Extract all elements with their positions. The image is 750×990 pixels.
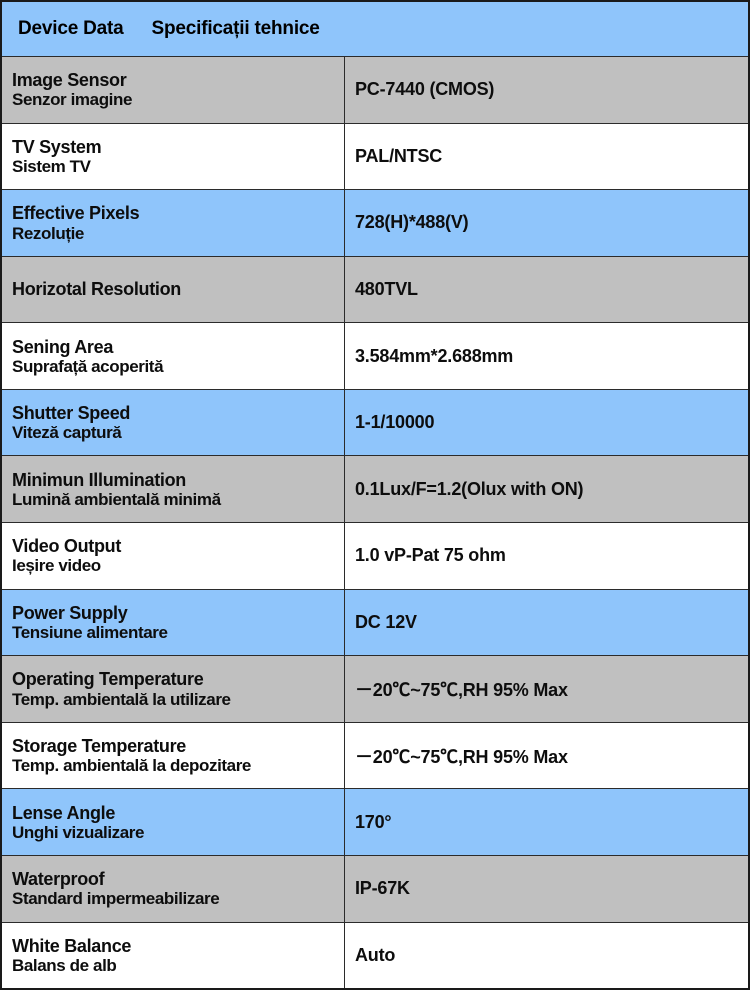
spec-value-cell: －20℃~75℃,RH 95% Max: [345, 656, 748, 722]
spec-label-ro: Balans de alb: [12, 956, 344, 975]
spec-label-cell: Horizotal Resolution: [2, 257, 345, 323]
spec-value-text: －20℃~75℃,RH 95% Max: [355, 743, 568, 769]
spec-label-ro: Viteză captură: [12, 423, 344, 442]
spec-label-cell: Lense Angle Unghi vizualizare: [2, 789, 345, 855]
spec-label-en: Operating Temperature: [12, 669, 344, 689]
spec-label-cell: Storage Temperature Temp. ambientală la …: [2, 723, 345, 789]
spec-label-en: Power Supply: [12, 603, 344, 623]
spec-label-ro: Unghi vizualizare: [12, 823, 344, 842]
spec-value-cell: 728(H)*488(V): [345, 190, 748, 256]
spec-label-cell: Image Sensor Senzor imagine: [2, 57, 345, 123]
spec-value-cell: DC 12V: [345, 590, 748, 656]
spec-label-cell: Power Supply Tensiune alimentare: [2, 590, 345, 656]
table-row-waterproof: Waterproof Standard impermeabilizare IP-…: [2, 856, 748, 923]
table-row-video-output: Video Output Ieșire video 1.0 vP-Pat 75 …: [2, 523, 748, 590]
spec-value-cell: Auto: [345, 923, 748, 989]
spec-value-cell: 3.584mm*2.688mm: [345, 323, 748, 389]
spec-value-text: Auto: [355, 945, 395, 966]
device-data-spec-table: Device Data Specificații tehnice Image S…: [0, 0, 750, 990]
table-row-operating-temperature: Operating Temperature Temp. ambientală l…: [2, 656, 748, 723]
spec-value-text: 1.0 vP-Pat 75 ohm: [355, 545, 506, 566]
spec-value-cell: IP-67K: [345, 856, 748, 922]
spec-label-en: Storage Temperature: [12, 736, 344, 756]
spec-label-ro: Rezoluție: [12, 224, 344, 243]
spec-value-cell: 480TVL: [345, 257, 748, 323]
spec-value-cell: 170°: [345, 789, 748, 855]
spec-label-cell: TV System Sistem TV: [2, 124, 345, 190]
spec-label-cell: Sening Area Suprafață acoperită: [2, 323, 345, 389]
spec-label-cell: Video Output Ieșire video: [2, 523, 345, 589]
spec-label-en: TV System: [12, 137, 344, 157]
spec-label-ro: Sistem TV: [12, 157, 344, 176]
spec-label-ro: Temp. ambientală la utilizare: [12, 690, 344, 709]
spec-value-cell: －20℃~75℃,RH 95% Max: [345, 723, 748, 789]
spec-value-text: 480TVL: [355, 279, 418, 300]
spec-value-text: DC 12V: [355, 612, 417, 633]
spec-label-en: Effective Pixels: [12, 203, 344, 223]
spec-label-en: White Balance: [12, 936, 344, 956]
spec-label-ro: Suprafață acoperită: [12, 357, 344, 376]
spec-value-cell: 1-1/10000: [345, 390, 748, 456]
spec-value-text: 0.1Lux/F=1.2(Olux with ON): [355, 479, 583, 500]
spec-label-en: Sening Area: [12, 337, 344, 357]
spec-label-ro: Lumină ambientală minimă: [12, 490, 344, 509]
spec-label-en: Lense Angle: [12, 803, 344, 823]
table-row-horizotal-resolution: Horizotal Resolution 480TVL: [2, 257, 748, 324]
spec-label-en: Shutter Speed: [12, 403, 344, 423]
spec-label-cell: Shutter Speed Viteză captură: [2, 390, 345, 456]
table-header-row: Device Data Specificații tehnice: [2, 2, 748, 57]
spec-label-cell: White Balance Balans de alb: [2, 923, 345, 989]
table-row-tv-system: TV System Sistem TV PAL/NTSC: [2, 124, 748, 191]
spec-label-en: Minimun Illumination: [12, 470, 344, 490]
spec-label-ro: Ieșire video: [12, 556, 344, 575]
spec-label-en: Waterproof: [12, 869, 344, 889]
spec-label-cell: Operating Temperature Temp. ambientală l…: [2, 656, 345, 722]
table-row-shutter-speed: Shutter Speed Viteză captură 1-1/10000: [2, 390, 748, 457]
spec-label-ro: Temp. ambientală la depozitare: [12, 756, 344, 775]
table-row-minimun-illumination: Minimun Illumination Lumină ambientală m…: [2, 456, 748, 523]
spec-value-text: PC-7440 (CMOS): [355, 79, 494, 100]
spec-value-text: 170°: [355, 812, 391, 833]
spec-label-en: Image Sensor: [12, 70, 344, 90]
table-row-storage-temperature: Storage Temperature Temp. ambientală la …: [2, 723, 748, 790]
spec-value-cell: PC-7440 (CMOS): [345, 57, 748, 123]
table-row-effective-pixels: Effective Pixels Rezoluție 728(H)*488(V): [2, 190, 748, 257]
table-row-lense-angle: Lense Angle Unghi vizualizare 170°: [2, 789, 748, 856]
table-row-white-balance: White Balance Balans de alb Auto: [2, 923, 748, 989]
spec-value-text: 1-1/10000: [355, 412, 434, 433]
spec-label-en: Horizotal Resolution: [12, 279, 344, 299]
header-title-en: Device Data: [18, 18, 124, 40]
spec-label-cell: Minimun Illumination Lumină ambientală m…: [2, 456, 345, 522]
table-row-sening-area: Sening Area Suprafață acoperită 3.584mm*…: [2, 323, 748, 390]
spec-label-cell: Waterproof Standard impermeabilizare: [2, 856, 345, 922]
spec-label-en: Video Output: [12, 536, 344, 556]
spec-value-text: －20℃~75℃,RH 95% Max: [355, 676, 568, 702]
table-row-power-supply: Power Supply Tensiune alimentare DC 12V: [2, 590, 748, 657]
spec-value-text: 3.584mm*2.688mm: [355, 346, 513, 367]
spec-value-text: IP-67K: [355, 878, 410, 899]
table-row-image-sensor: Image Sensor Senzor imagine PC-7440 (CMO…: [2, 57, 748, 124]
spec-value-cell: PAL/NTSC: [345, 124, 748, 190]
spec-value-text: PAL/NTSC: [355, 146, 442, 167]
spec-value-cell: 0.1Lux/F=1.2(Olux with ON): [345, 456, 748, 522]
spec-label-ro: Senzor imagine: [12, 90, 344, 109]
spec-label-ro: Tensiune alimentare: [12, 623, 344, 642]
spec-value-cell: 1.0 vP-Pat 75 ohm: [345, 523, 748, 589]
header-title-ro: Specificații tehnice: [152, 18, 320, 40]
spec-label-cell: Effective Pixels Rezoluție: [2, 190, 345, 256]
spec-value-text: 728(H)*488(V): [355, 212, 468, 233]
spec-label-ro: Standard impermeabilizare: [12, 889, 344, 908]
